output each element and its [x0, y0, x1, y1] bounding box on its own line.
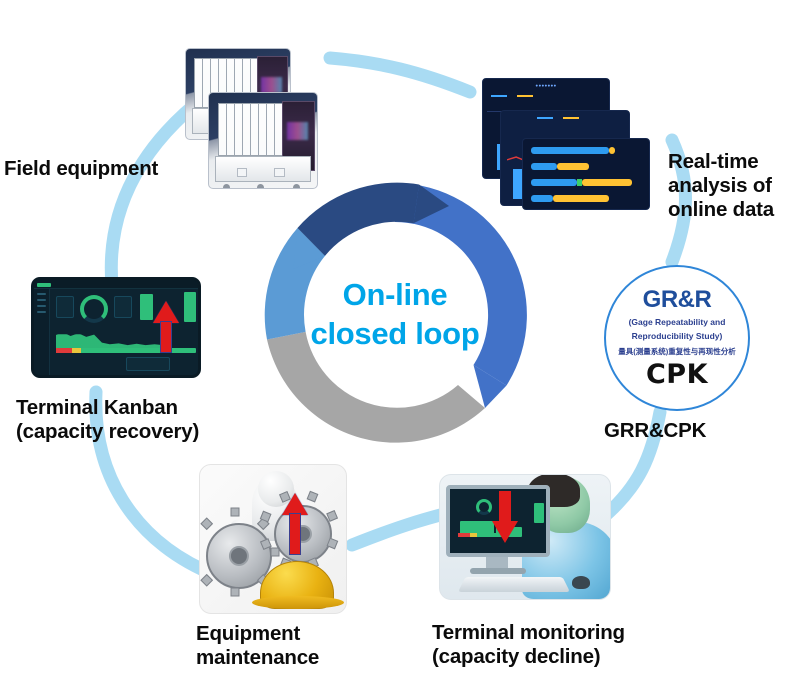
dashboard-legend	[537, 117, 579, 119]
central-ring: On-line closed loop	[253, 173, 537, 457]
grr-subtitle-line1: (Gage Repeatability and	[629, 317, 726, 328]
kanban-sidebar	[34, 289, 50, 375]
machine-photo-front	[208, 92, 318, 189]
terminal-monitoring-image[interactable]	[439, 474, 611, 600]
dashboard-hbar-row	[531, 163, 643, 170]
dashboard-hbar-row	[531, 147, 643, 154]
gear-large-left	[206, 523, 272, 589]
cpk-acronym: CPK	[646, 359, 708, 390]
red-down-arrow-icon	[492, 491, 518, 543]
label-grr-cpk: GRR&CPK	[604, 419, 706, 443]
arc-realtime-to-field	[330, 58, 470, 92]
kanban-kpi-card	[114, 296, 132, 318]
arrow-shaft	[289, 513, 301, 555]
hbar-yellow-part	[609, 147, 615, 154]
dashboard-panel-front	[522, 138, 650, 210]
hbar-blue-part	[531, 147, 609, 154]
grr-subtitle-line2: Reproducibility Study)	[632, 331, 723, 342]
kanban-gauge	[80, 295, 108, 323]
legend-swatch-yellow	[563, 117, 579, 119]
dashboard-hbar-row	[531, 179, 643, 186]
arrow-head	[492, 521, 518, 543]
monitor-base	[470, 568, 526, 574]
grr-chinese-text: 量具(测量系统)重复性与再现性分析	[618, 346, 736, 357]
hbar-blue-part	[531, 195, 553, 202]
equipment-maintenance-image[interactable]	[199, 464, 347, 614]
legend-swatch-blue	[537, 117, 553, 119]
grr-cpk-badge[interactable]: GR&R (Gage Repeatability and Reproducibi…	[604, 265, 750, 411]
red-up-arrow-icon	[282, 493, 308, 555]
legend-swatch-yellow	[517, 95, 533, 97]
hbar-yellow-part	[553, 195, 609, 202]
maintenance-illustration	[199, 464, 347, 614]
kanban-sidebar-item	[37, 299, 46, 301]
mouse	[572, 576, 590, 589]
dashboard-panel-title: ●●●●●●●	[483, 83, 609, 88]
ring-center-label: On-line closed loop	[253, 173, 537, 457]
arrow-shaft	[160, 321, 172, 353]
monitoring-illustration	[439, 474, 611, 600]
kanban-topbar	[34, 280, 198, 289]
dashboard-hbar-row	[531, 195, 643, 202]
red-up-arrow-icon	[153, 301, 179, 353]
label-terminal-monitoring: Terminal monitoring (capacity decline)	[432, 621, 625, 669]
machine-wheel	[293, 184, 300, 189]
screen-gauge	[476, 499, 492, 515]
label-realtime-analysis: Real-time analysis of online data	[668, 150, 774, 223]
kanban-sidebar-item	[37, 311, 46, 313]
machine-wheel	[257, 184, 264, 189]
arrow-head	[282, 493, 308, 515]
screen-green-bar	[534, 503, 544, 523]
center-title-line1: On-line	[343, 279, 448, 312]
kanban-sidebar-item	[37, 305, 46, 307]
arc-maintenance-to-monitoring	[352, 512, 452, 545]
kanban-kpi-card	[56, 296, 74, 318]
keyboard	[458, 577, 570, 592]
dashboard-legend	[491, 95, 533, 97]
kanban-green-bar	[184, 292, 196, 322]
kanban-note-card	[126, 357, 170, 371]
arrow-shaft	[499, 491, 511, 521]
hbar-blue-part	[531, 163, 557, 170]
arrow-head	[153, 301, 179, 323]
label-terminal-kanban: Terminal Kanban (capacity recovery)	[16, 396, 199, 444]
realtime-dashboard-image[interactable]: ●●●●●●●	[478, 78, 650, 210]
kanban-sidebar-item	[37, 293, 46, 295]
dashboard-bar	[513, 169, 522, 199]
kanban-green-bar	[140, 294, 153, 320]
hbar-yellow-part	[557, 163, 589, 170]
diagram-canvas: On-line closed loop Field equipment ●●●●…	[0, 0, 800, 684]
hbar-yellow-part	[582, 179, 632, 186]
field-equipment-image[interactable]	[185, 48, 318, 190]
label-equipment-maintenance: Equipment maintenance	[196, 622, 319, 670]
machine-wheel	[223, 184, 230, 189]
label-field-equipment: Field equipment	[4, 157, 158, 181]
center-title-line2: closed loop	[311, 318, 480, 351]
grr-title: GR&R	[643, 286, 712, 314]
terminal-kanban-image[interactable]	[31, 277, 201, 378]
hbar-blue-part	[531, 179, 577, 186]
machine-base	[215, 156, 310, 183]
legend-swatch-blue	[491, 95, 507, 97]
